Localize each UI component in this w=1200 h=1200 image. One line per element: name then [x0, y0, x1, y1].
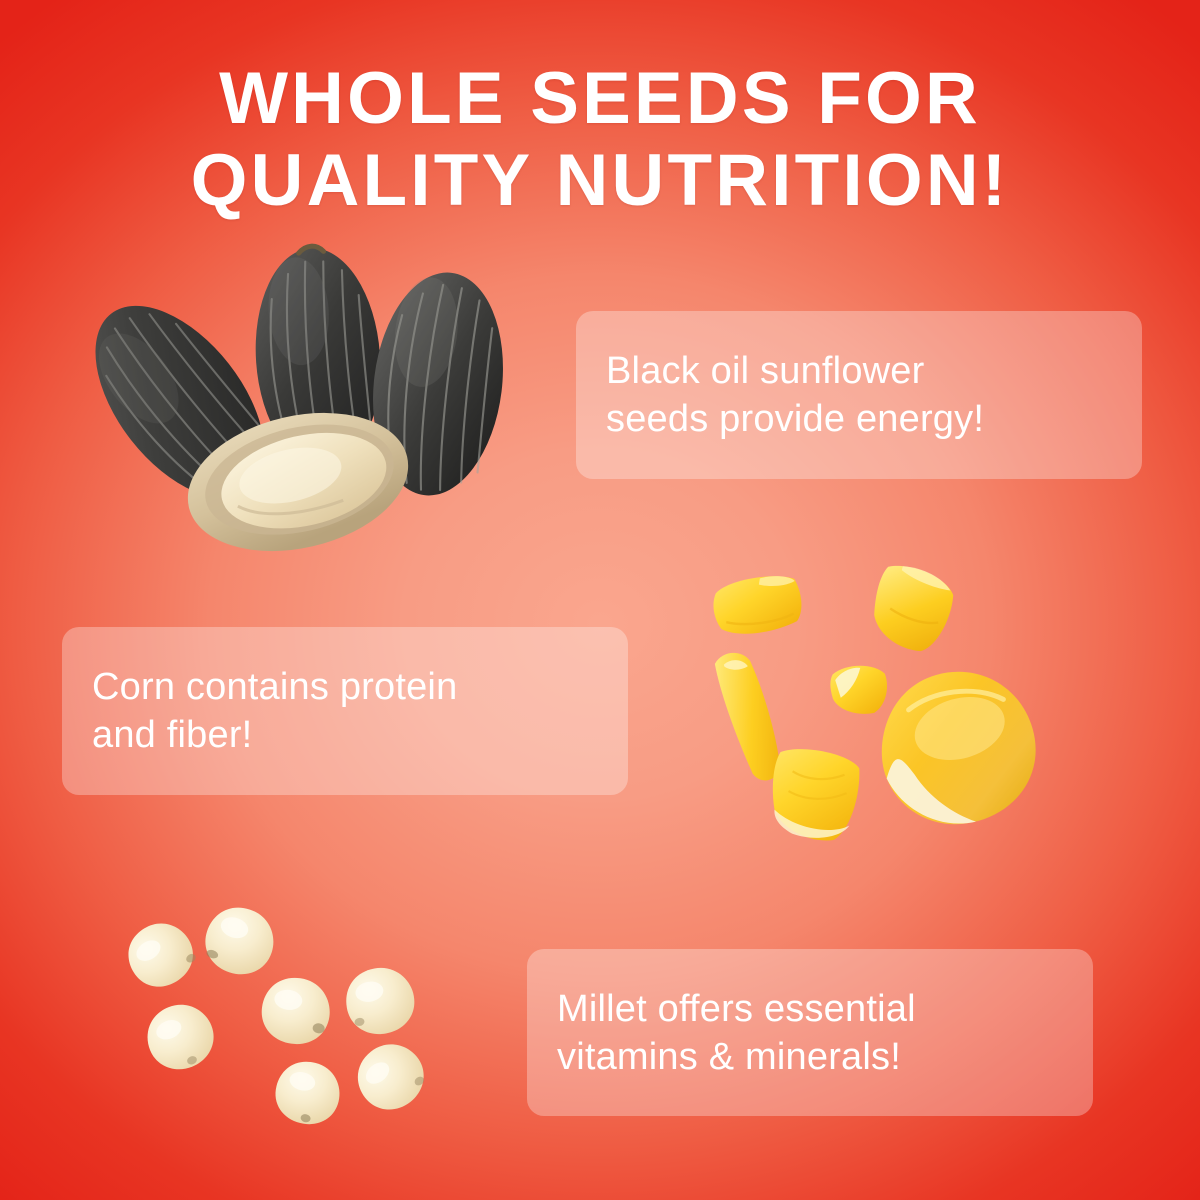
- callout-text-corn: Corn contains protein and fiber!: [62, 663, 457, 759]
- callout-text-millet: Millet offers essential vitamins & miner…: [527, 985, 916, 1081]
- poster-canvas: WHOLE SEEDS FOR QUALITY NUTRITION!: [0, 0, 1200, 1200]
- corn-piece-1: [710, 571, 805, 639]
- millet-seed-7: [345, 1031, 436, 1122]
- millet-seed-4: [258, 974, 335, 1049]
- corn-piece-2: [865, 561, 958, 657]
- corn-kernels-illustration: [695, 548, 1055, 848]
- millet-seed-1: [117, 912, 204, 998]
- millet-seed-3: [138, 995, 223, 1079]
- callout-panel-millet: Millet offers essential vitamins & miner…: [527, 949, 1093, 1116]
- corn-piece-5: [767, 746, 862, 844]
- millet-seed-5: [341, 963, 419, 1040]
- millet-seed-2: [197, 899, 282, 983]
- callout-panel-corn: Corn contains protein and fiber!: [62, 627, 628, 795]
- millet-seeds-illustration: [118, 898, 458, 1136]
- corn-piece-3: [829, 663, 890, 716]
- millet-seed-6: [269, 1055, 346, 1131]
- page-title: WHOLE SEEDS FOR QUALITY NUTRITION!: [0, 58, 1200, 222]
- callout-text-sunflower: Black oil sunflower seeds provide energy…: [576, 347, 984, 443]
- corn-whole-kernel: [863, 653, 1053, 842]
- callout-panel-sunflower: Black oil sunflower seeds provide energy…: [576, 311, 1142, 479]
- sunflower-seeds-illustration: [62, 232, 562, 542]
